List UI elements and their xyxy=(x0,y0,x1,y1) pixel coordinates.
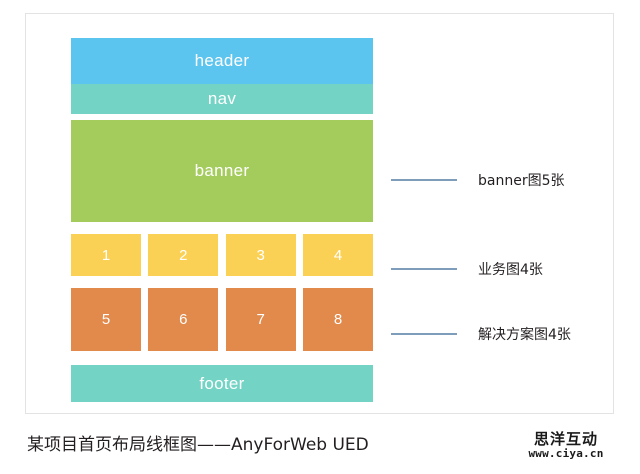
wireframe-box-7-label: 7 xyxy=(256,311,264,328)
annotation-banner: banner图5张 xyxy=(391,171,565,189)
wireframe-block-banner: banner xyxy=(71,120,373,222)
wireframe-box-2-label: 2 xyxy=(179,247,187,264)
wireframe-block-nav: nav xyxy=(71,84,373,114)
wireframe-block-footer-label: footer xyxy=(199,374,244,394)
wireframe-block-nav-label: nav xyxy=(208,89,236,109)
wireframe-box-1-label: 1 xyxy=(102,247,110,264)
wireframe-box-8-label: 8 xyxy=(334,311,342,328)
wireframe-block-banner-label: banner xyxy=(195,161,250,181)
wireframe-block-footer: footer xyxy=(71,365,373,402)
wireframe-box-4-label: 4 xyxy=(334,247,342,264)
leader-line-icon xyxy=(391,268,457,270)
wireframe-card: header nav banner 1 2 3 4 5 6 7 8 xyxy=(25,13,614,414)
wireframe-box-2: 2 xyxy=(148,234,218,276)
watermark-url: www.ciya.cn xyxy=(516,448,616,459)
watermark-brand-name: 思洋互动 xyxy=(516,432,616,447)
wireframe-box-6: 6 xyxy=(148,288,218,351)
annotation-solution: 解决方案图4张 xyxy=(391,325,571,343)
leader-line-icon xyxy=(391,333,457,335)
wireframe-box-6-label: 6 xyxy=(179,311,187,328)
wireframe-box-4: 4 xyxy=(303,234,373,276)
wireframe-box-7: 7 xyxy=(226,288,296,351)
annotation-solution-label: 解决方案图4张 xyxy=(478,324,571,344)
wireframe-box-5: 5 xyxy=(71,288,141,351)
wireframe-block-header: header xyxy=(71,38,373,84)
annotation-business-label: 业务图4张 xyxy=(478,259,543,279)
leader-line-icon xyxy=(391,179,457,181)
watermark: 思洋互动 www.ciya.cn xyxy=(516,432,616,459)
wireframe-box-5-label: 5 xyxy=(102,311,110,328)
wireframe-box-8: 8 xyxy=(303,288,373,351)
wireframe-box-1: 1 xyxy=(71,234,141,276)
wireframe-box-3-label: 3 xyxy=(256,247,264,264)
wireframe-row-solution: 5 6 7 8 xyxy=(71,288,373,351)
diagram-caption: 某项目首页布局线框图——AnyForWeb UED xyxy=(27,430,369,455)
wireframe-block-header-label: header xyxy=(195,51,250,71)
annotation-business: 业务图4张 xyxy=(391,260,543,278)
annotation-banner-label: banner图5张 xyxy=(478,170,565,190)
wireframe-box-3: 3 xyxy=(226,234,296,276)
wireframe-row-business: 1 2 3 4 xyxy=(71,234,373,276)
